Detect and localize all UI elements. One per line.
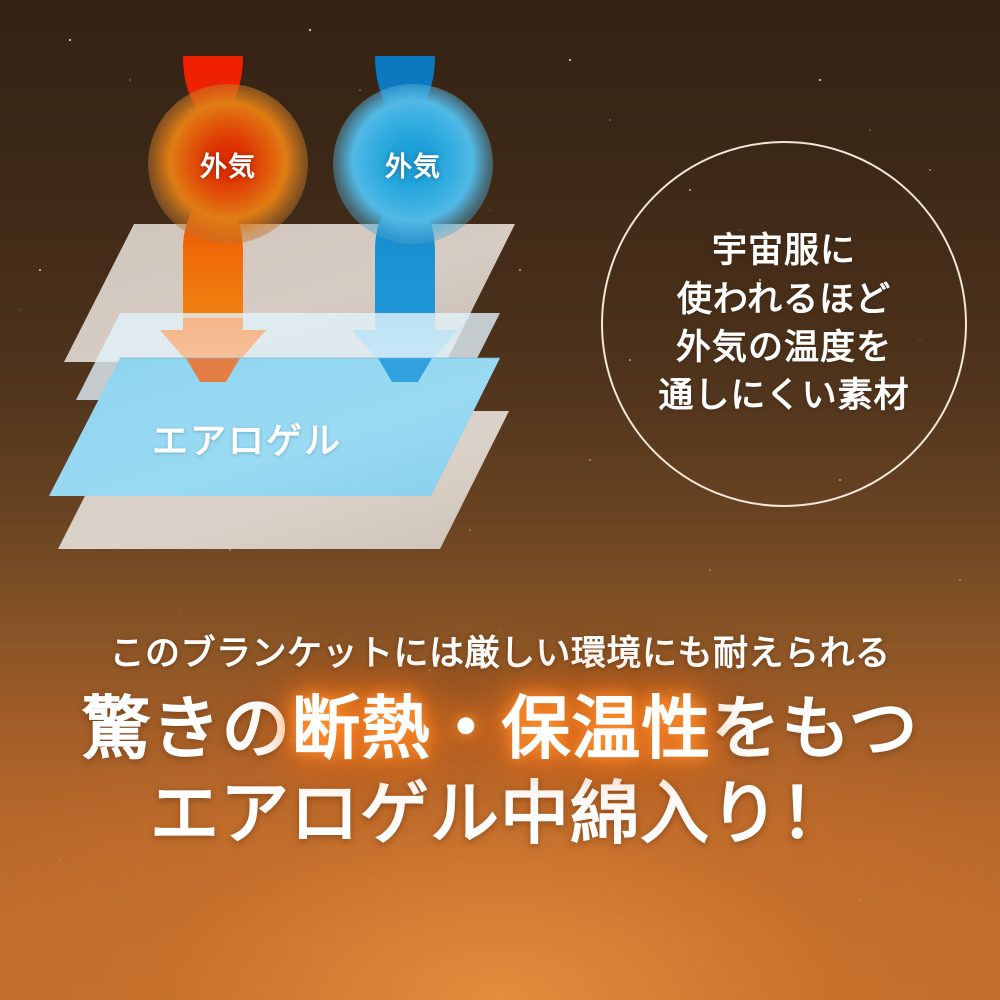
headline-line-1: 驚きの断熱・保温性をもつ xyxy=(0,690,1000,769)
subtitle-text: このブランケットには厳しい環境にも耐えられる xyxy=(0,625,1000,676)
badge-line-1: 宇宙服に xyxy=(712,227,856,275)
hot-air-sphere: 外気 xyxy=(148,84,308,244)
badge-line-3: 外気の温度を xyxy=(676,324,892,372)
cold-air-label: 外気 xyxy=(385,145,441,184)
space-suit-badge: 宇宙服に 使われるほど 外気の温度を 通しにくい素材 xyxy=(601,141,967,507)
badge-line-2: 使われるほど xyxy=(677,276,891,324)
insulation-diagram: 外気 外気 エアロゲル xyxy=(0,0,620,600)
layer-stack-illustration xyxy=(0,0,620,600)
hot-air-label: 外気 xyxy=(200,145,256,184)
badge-line-4: 通しにくい素材 xyxy=(658,372,909,420)
promo-canvas: 外気 外気 エアロゲル 宇宙服に 使われるほど 外気の温度を 通しにくい素材 こ… xyxy=(0,0,1000,1000)
headline-suffix: をもつ xyxy=(711,690,918,767)
promo-copy: このブランケットには厳しい環境にも耐えられる 驚きの断熱・保温性をもつ エアロゲ… xyxy=(0,625,1000,853)
headline-prefix: 驚きの xyxy=(81,690,291,767)
aerogel-layer-label: エアロゲル xyxy=(152,412,452,464)
headline-highlight: 断熱・保温性 xyxy=(291,690,711,767)
headline-line-2: エアロゲル中綿入り！ xyxy=(0,775,1000,854)
cold-air-sphere: 外気 xyxy=(333,84,493,244)
